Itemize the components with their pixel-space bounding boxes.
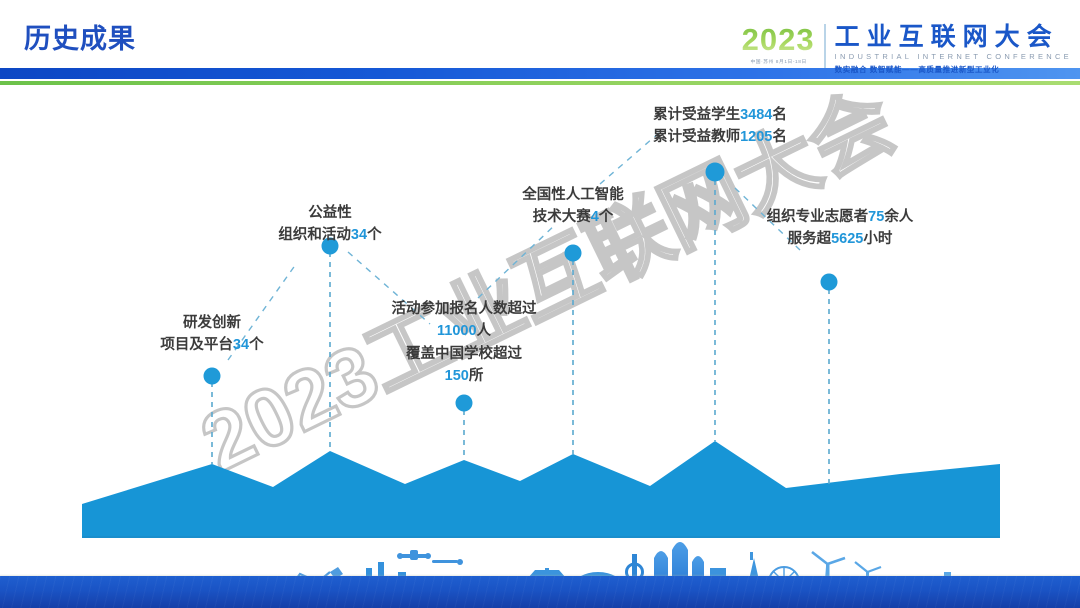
callout-1-line1: 研发创新 xyxy=(122,312,302,334)
callout-6-line2-post: 小时 xyxy=(863,231,892,247)
mountain-area-path xyxy=(82,441,1000,538)
callout-4-line2-post: 个 xyxy=(599,209,614,225)
callout-1-line2-post: 个 xyxy=(249,337,264,353)
callout-4-line2-pre: 技术大赛 xyxy=(533,209,591,225)
callout-3-line1: 活动参加报名人数超过 xyxy=(364,298,564,320)
logo-name-en: INDUSTRIAL INTERNET CONFERENCE xyxy=(835,52,1072,61)
callout-2-line2-post: 个 xyxy=(367,227,382,243)
logo-year-subtitle: 中国·苏州 8月1日-18日 xyxy=(750,58,806,65)
callout-1-line2-num: 34 xyxy=(233,337,249,353)
callout-5-line1-post: 名 xyxy=(772,107,787,123)
callout-5-line1: 累计受益学生3484名 xyxy=(620,104,820,126)
callout-2-line2-pre: 组织和活动 xyxy=(278,227,351,243)
callout-6-line2-num: 5625 xyxy=(831,231,863,247)
marker-dot-3[interactable] xyxy=(456,395,473,412)
callout-volunteers: 组织专业志愿者75余人 服务超5625小时 xyxy=(740,206,940,251)
callout-5-line2-post: 名 xyxy=(772,129,787,145)
callout-6-line2: 服务超5625小时 xyxy=(740,228,940,250)
callout-5-line2: 累计受益教师1205名 xyxy=(620,126,820,148)
callout-5-line2-num: 1205 xyxy=(740,129,772,145)
logo-year-block: 2023 中国·苏州 8月1日-18日 xyxy=(742,24,824,65)
callout-4-line2-num: 4 xyxy=(591,209,599,225)
callout-3-line2-post: 人 xyxy=(477,323,492,339)
slide-footer xyxy=(0,538,1080,608)
callout-public-welfare: 公益性 组织和活动34个 xyxy=(240,202,420,247)
marker-dot-1[interactable] xyxy=(204,368,221,385)
drone-icon xyxy=(397,550,463,565)
page-title: 历史成果 xyxy=(24,17,136,56)
logo-slogan: 数实融合 数智赋能——高质量推进新型工业化 xyxy=(835,64,1072,75)
marker-dot-4[interactable] xyxy=(565,245,582,262)
callout-6-line1-pre: 组织专业志愿者 xyxy=(767,209,869,225)
callout-rd-innovation: 研发创新 项目及平台34个 xyxy=(122,312,302,357)
callout-ai-competition: 全国性人工智能 技术大赛4个 xyxy=(493,184,653,229)
marker-dot-6[interactable] xyxy=(821,274,838,291)
callout-3-line3: 覆盖中国学校超过 xyxy=(364,343,564,365)
callout-4-line1: 全国性人工智能 xyxy=(493,184,653,206)
water-texture xyxy=(0,576,1080,608)
logo-year: 2023 xyxy=(742,24,815,55)
callout-2-line1: 公益性 xyxy=(240,202,420,224)
slide-root: 历史成果 2023 中国·苏州 8月1日-18日 工业互联网大会 INDUSTR… xyxy=(0,0,1080,608)
callout-4-line2: 技术大赛4个 xyxy=(493,206,653,228)
chart-stage: 2023工业互联网大会 xyxy=(0,92,1080,538)
slide-header: 历史成果 2023 中国·苏州 8月1日-18日 工业互联网大会 INDUSTR… xyxy=(0,0,1080,92)
marker-dot-5[interactable] xyxy=(706,163,725,182)
callout-5-line1-num: 3484 xyxy=(740,107,772,123)
callout-2-line2: 组织和活动34个 xyxy=(240,224,420,246)
callout-5-line1-pre: 累计受益学生 xyxy=(653,107,740,123)
logo-divider xyxy=(824,24,826,68)
leader-line-c xyxy=(478,224,556,298)
callout-1-line2-pre: 项目及平台 xyxy=(160,337,233,353)
header-green-rule xyxy=(0,81,1080,85)
callout-1-line2: 项目及平台34个 xyxy=(122,334,302,356)
callout-3-line2-num: 11000 xyxy=(437,323,477,339)
callout-6-line2-pre: 服务超 xyxy=(788,231,832,247)
callout-beneficiaries: 累计受益学生3484名 累计受益教师1205名 xyxy=(620,104,820,149)
callout-5-line2-pre: 累计受益教师 xyxy=(653,129,740,145)
callout-6-line1-post: 余人 xyxy=(884,209,913,225)
conference-logo: 2023 中国·苏州 8月1日-18日 工业互联网大会 INDUSTRIAL I… xyxy=(742,24,1072,74)
logo-name-block: 工业互联网大会 INDUSTRIAL INTERNET CONFERENCE 数… xyxy=(835,24,1072,75)
callout-3-line4-num: 150 xyxy=(445,368,469,384)
logo-name-cn: 工业互联网大会 xyxy=(835,24,1072,50)
callout-6-line1: 组织专业志愿者75余人 xyxy=(740,206,940,228)
callout-participants: 活动参加报名人数超过 11000人 覆盖中国学校超过 150所 xyxy=(364,298,564,388)
callout-6-line1-num: 75 xyxy=(868,209,884,225)
callout-3-line4-post: 所 xyxy=(469,368,484,384)
callout-2-line2-num: 34 xyxy=(351,227,367,243)
callout-3-line2: 11000人 xyxy=(364,320,564,342)
callout-3-line4: 150所 xyxy=(364,365,564,387)
